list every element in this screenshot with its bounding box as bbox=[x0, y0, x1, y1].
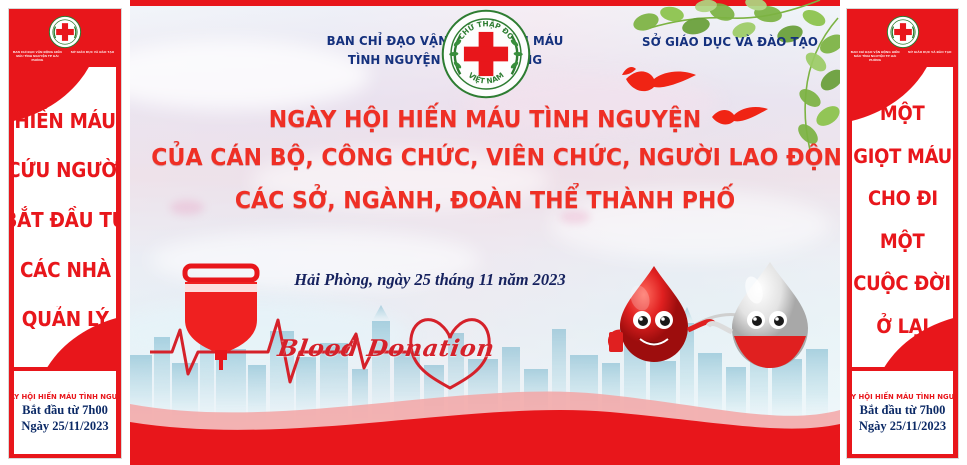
left-footer-time: Bắt đầu từ 7h00 bbox=[22, 403, 108, 417]
left-banner-slogan: HIẾN MÁU CỨU NGƯỜI BẮT ĐẦU TỪ CÁC NHÀ QU… bbox=[14, 81, 116, 359]
red-cross-emblem bbox=[48, 15, 82, 49]
red-blood-drop-mascot bbox=[609, 266, 714, 362]
red-cross-emblem bbox=[886, 15, 920, 49]
left-footer-title: NGÀY HỘI HIẾN MÁU TÌNH NGUYỆN bbox=[8, 392, 122, 401]
right-banner-org-right: SỞ GIÁO DỤC VÀ ĐÀO TẠO bbox=[905, 51, 955, 63]
left-banner-body: BAN CHỈ ĐẠO VẬN ĐỘNG HIẾN MÁU TÌNH NGUYỆ… bbox=[8, 8, 122, 459]
left-slogan-line-4: CÁC NHÀ bbox=[20, 260, 111, 280]
blood-donation-script-text: Blood Donation bbox=[276, 335, 496, 362]
left-banner-org-row: BAN CHỈ ĐẠO VẬN ĐỘNG HIẾN MÁU TÌNH NGUYỆ… bbox=[12, 51, 118, 63]
center-panel: BAN CHỈ ĐẠO VẬN ĐỘNG HIẾN MÁU TÌNH NGUYỆ… bbox=[130, 0, 840, 465]
right-slogan-line-4: MỘT bbox=[880, 232, 925, 252]
right-slogan-line-2: GIỌT MÁU bbox=[853, 147, 952, 167]
title-line-3: CÁC SỞ, NGÀNH, ĐOÀN THỂ THÀNH PHỐ bbox=[151, 180, 818, 221]
left-footer-date: Ngày 25/11/2023 bbox=[21, 419, 108, 433]
right-slogan-line-1: MỘT bbox=[880, 104, 925, 124]
poster-titles: NGÀY HỘI HIẾN MÁU TÌNH NGUYỆN CỦA CÁN BỘ… bbox=[130, 104, 840, 221]
right-banner-white-field: MỘT GIỌT MÁU CHO ĐI MỘT CUỘC ĐỜI Ở LẠI bbox=[852, 67, 953, 367]
right-footer-time: Bắt đầu từ 7h00 bbox=[860, 403, 946, 417]
left-slogan-line-2: CỨU NGƯỜI bbox=[14, 160, 116, 180]
title-line-1: NGÀY HỘI HIẾN MÁU TÌNH NGUYỆN bbox=[151, 104, 818, 135]
right-slogan-line-3: CHO ĐI bbox=[868, 189, 938, 209]
right-banner-org-row: BAN CHỈ ĐẠO VẬN ĐỘNG HIẾN MÁU TÌNH NGUYỆ… bbox=[850, 51, 955, 63]
right-vertical-banner: BAN CHỈ ĐẠO VẬN ĐỘNG HIẾN MÁU TÌNH NGUYỆ… bbox=[840, 0, 967, 465]
left-banner-org-left: BAN CHỈ ĐẠO VẬN ĐỘNG HIẾN MÁU TÌNH NGUYỆ… bbox=[12, 51, 63, 63]
left-banner-white-field: HIẾN MÁU CỨU NGƯỜI BẮT ĐẦU TỪ CÁC NHÀ QU… bbox=[14, 67, 116, 367]
right-slogan-line-6: Ở LẠI bbox=[876, 317, 929, 337]
blood-drop-mascots bbox=[608, 258, 830, 376]
right-banner-org-left: BAN CHỈ ĐẠO VẬN ĐỘNG HIẾN MÁU TÌNH NGUYỆ… bbox=[850, 51, 900, 63]
right-banner-body: BAN CHỈ ĐẠO VẬN ĐỘNG HIẾN MÁU TÌNH NGUYỆ… bbox=[846, 8, 959, 459]
center-header-right: SỞ GIÁO DỤC VÀ ĐÀO TẠO bbox=[592, 33, 840, 52]
right-footer-date: Ngày 25/11/2023 bbox=[859, 419, 946, 433]
red-cross-emblem: CHỮ THẬP ĐỎ VIỆT NAM bbox=[440, 8, 532, 100]
left-slogan-line-3: BẮT ĐẦU TỪ bbox=[14, 210, 116, 230]
left-banner-org-right: SỞ GIÁO DỤC VÀ ĐÀO TẠO bbox=[67, 51, 118, 63]
right-banner-slogan: MỘT GIỌT MÁU CHO ĐI MỘT CUỘC ĐỜI Ở LẠI bbox=[852, 81, 953, 359]
blood-bag-icon bbox=[165, 258, 295, 373]
left-slogan-line-1: HIẾN MÁU bbox=[14, 111, 115, 131]
right-footer-title: NGÀY HỘI HIẾN MÁU TÌNH NGUYỆN bbox=[846, 392, 959, 401]
blood-donation-poster: BAN CHỈ ĐẠO VẬN ĐỘNG HIẾN MÁU TÌNH NGUYỆ… bbox=[0, 0, 967, 465]
left-slogan-line-5: QUẢN LÝ bbox=[22, 309, 109, 329]
left-banner-footer: NGÀY HỘI HIẾN MÁU TÌNH NGUYỆN Bắt đầu từ… bbox=[14, 371, 116, 454]
right-slogan-line-5: CUỘC ĐỜI bbox=[854, 274, 952, 294]
right-banner-footer: NGÀY HỘI HIẾN MÁU TÌNH NGUYỆN Bắt đầu từ… bbox=[852, 371, 953, 454]
title-line-2: CỦA CÁN BỘ, CÔNG CHỨC, VIÊN CHỨC, NGƯỜI … bbox=[151, 135, 818, 180]
left-vertical-banner: BAN CHỈ ĐẠO VẬN ĐỘNG HIẾN MÁU TÌNH NGUYỆ… bbox=[0, 0, 130, 465]
